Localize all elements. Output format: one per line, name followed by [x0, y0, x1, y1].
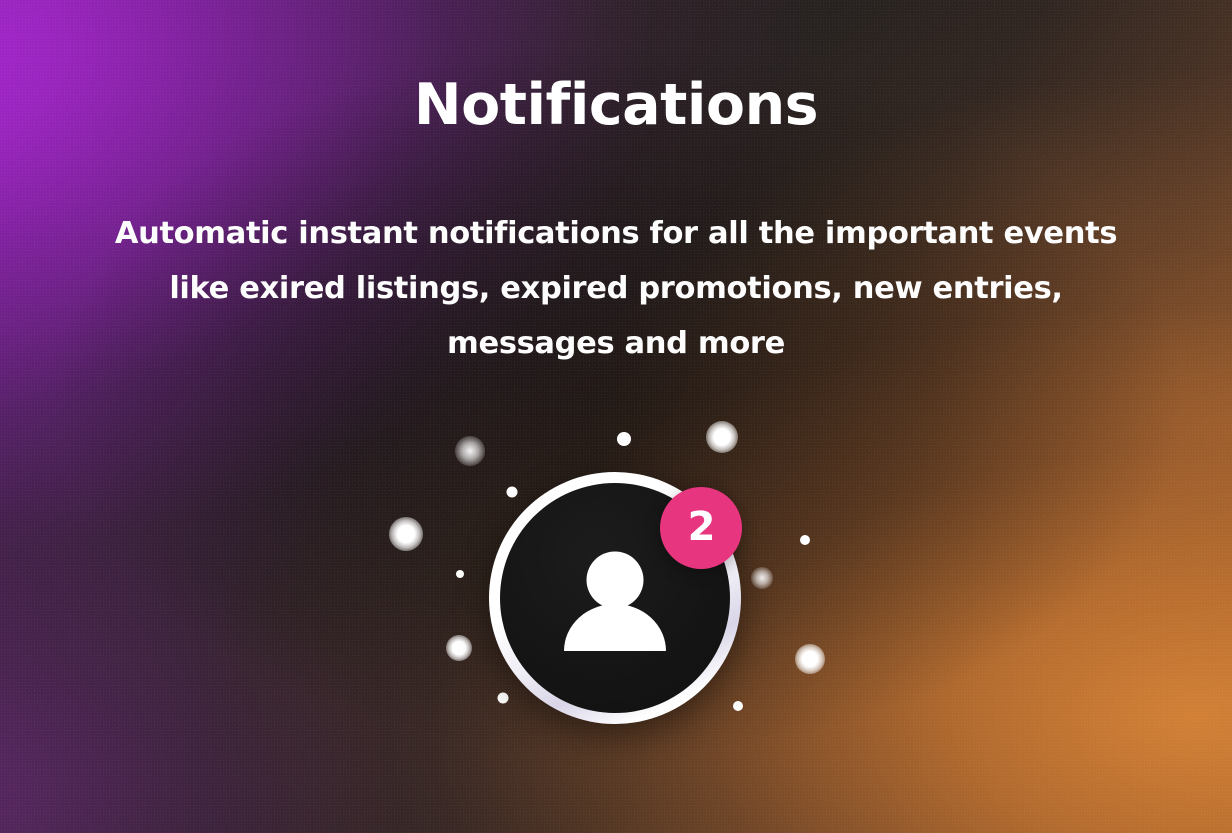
content-region: Notifications Automatic instant notifica… — [0, 0, 1232, 833]
notification-badge-count: 2 — [688, 507, 715, 547]
person-icon — [559, 551, 671, 655]
notifications-feature-panel: Notifications Automatic instant notifica… — [0, 0, 1232, 833]
notification-avatar[interactable]: 2 — [489, 472, 741, 724]
page-title: Notifications — [0, 76, 1232, 136]
notification-badge[interactable]: 2 — [660, 487, 742, 569]
page-subtitle: Automatic instant notifications for all … — [94, 206, 1139, 371]
